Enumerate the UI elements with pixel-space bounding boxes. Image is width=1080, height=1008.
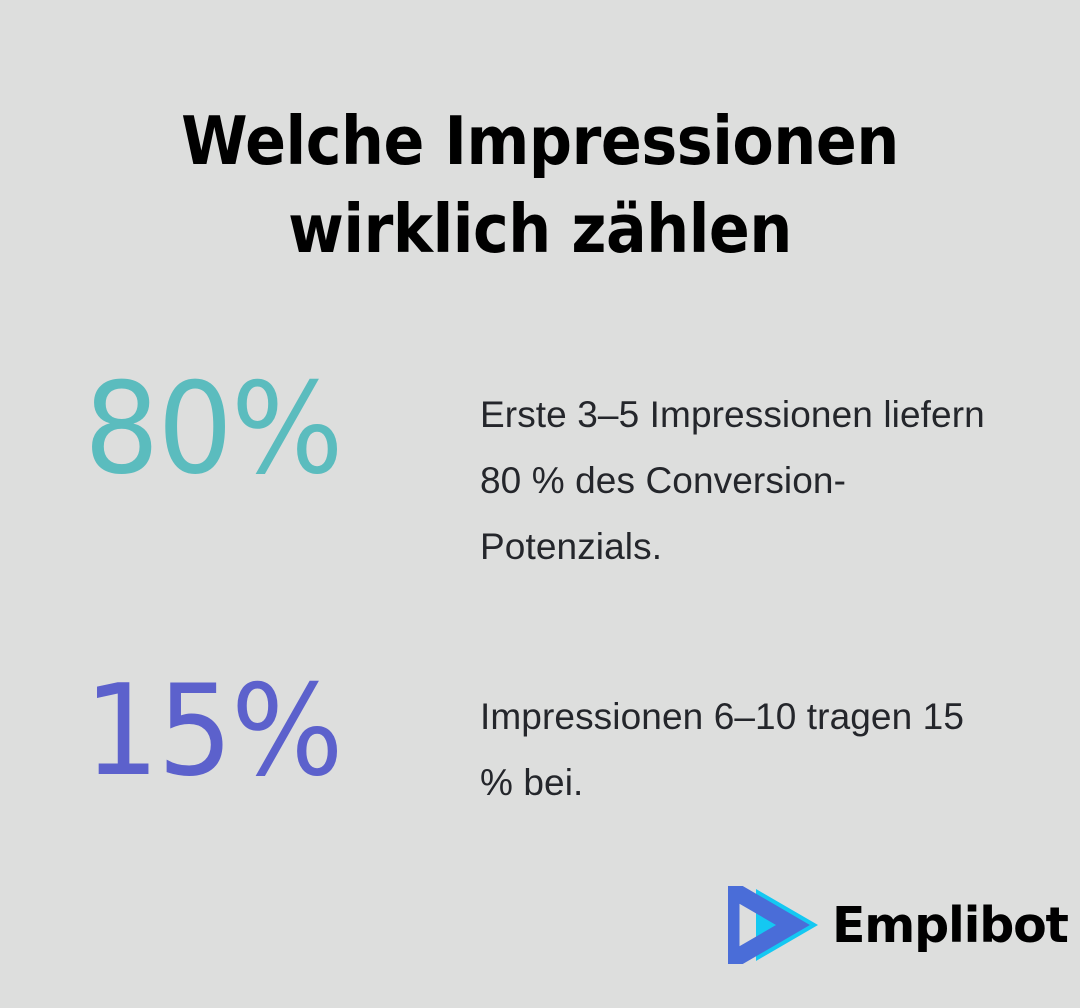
page-title-line-2: wirklich zählen <box>54 185 1026 273</box>
play-triangle-icon <box>728 886 820 964</box>
brand-logo: Emplibot <box>728 884 1044 966</box>
infographic-canvas: Welche Impressionen wirklich zählen 80% … <box>0 0 1080 1008</box>
statistic-value-15: 15% <box>84 668 456 794</box>
page-title: Welche Impressionen wirklich zählen <box>0 97 1080 273</box>
statistics-list: 80% Erste 3–5 Impressionen liefern 80 % … <box>0 366 1080 816</box>
brand-wordmark: Emplibot <box>832 901 1068 950</box>
statistic-description-80: Erste 3–5 Impressionen liefern 80 % des … <box>480 366 1000 580</box>
statistic-item: 15% Impressionen 6–10 tragen 15 % bei. <box>0 668 1080 816</box>
statistic-item: 80% Erste 3–5 Impressionen liefern 80 % … <box>0 366 1080 580</box>
page-title-line-1: Welche Impressionen <box>54 97 1026 185</box>
statistic-value-80: 80% <box>84 366 456 492</box>
statistic-description-15: Impressionen 6–10 tragen 15 % bei. <box>480 668 1000 816</box>
